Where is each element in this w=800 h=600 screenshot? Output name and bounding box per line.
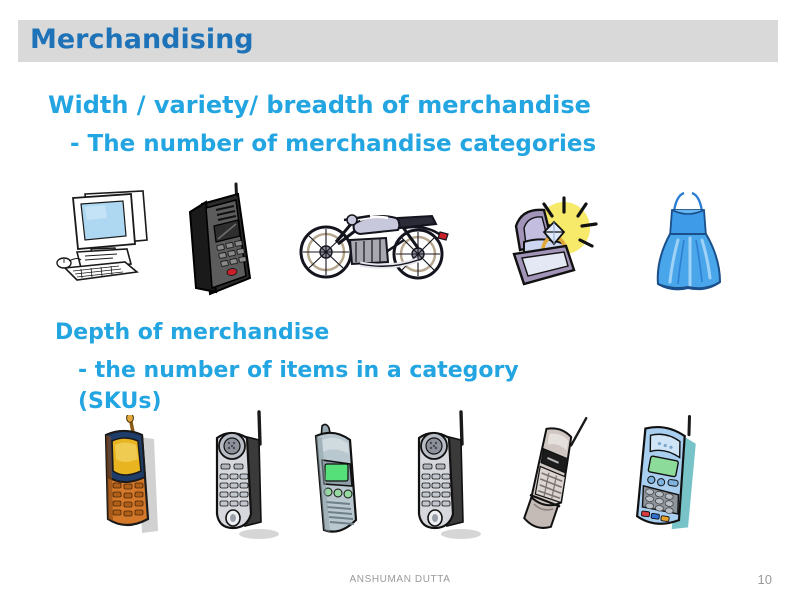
width-heading: Width / variety/ breadth of merchandise [48,92,591,120]
green-screen-phone-clipart [300,420,372,542]
depth-subline-1: - the number of items in a category [78,358,519,383]
silver-cordless-phone-2-clipart [405,410,483,540]
motorcycle-clipart [294,196,454,282]
ring-jewellery-box-clipart [500,192,610,296]
orange-flip-phone-clipart [94,415,170,540]
silver-cordless-phone-clipart [203,410,281,540]
brick-mobile-phone-clipart [180,182,252,298]
depth-heading: Depth of merchandise [55,320,329,345]
footer-author: ANSHUMAN DUTTA [0,574,800,585]
footer-page-number: 10 [758,572,772,587]
width-subline: - The number of merchandise categories [70,131,596,157]
blue-dress-clipart [650,190,726,294]
page-title: Merchandising [30,24,254,55]
blue-keypad-phone-clipart [625,412,709,540]
depth-subline-2: (SKUs) [78,389,162,414]
tilted-flip-phone-clipart [510,408,598,538]
slide-canvas: Merchandising Width / variety/ breadth o… [0,0,800,600]
desktop-computer-clipart [55,188,160,288]
